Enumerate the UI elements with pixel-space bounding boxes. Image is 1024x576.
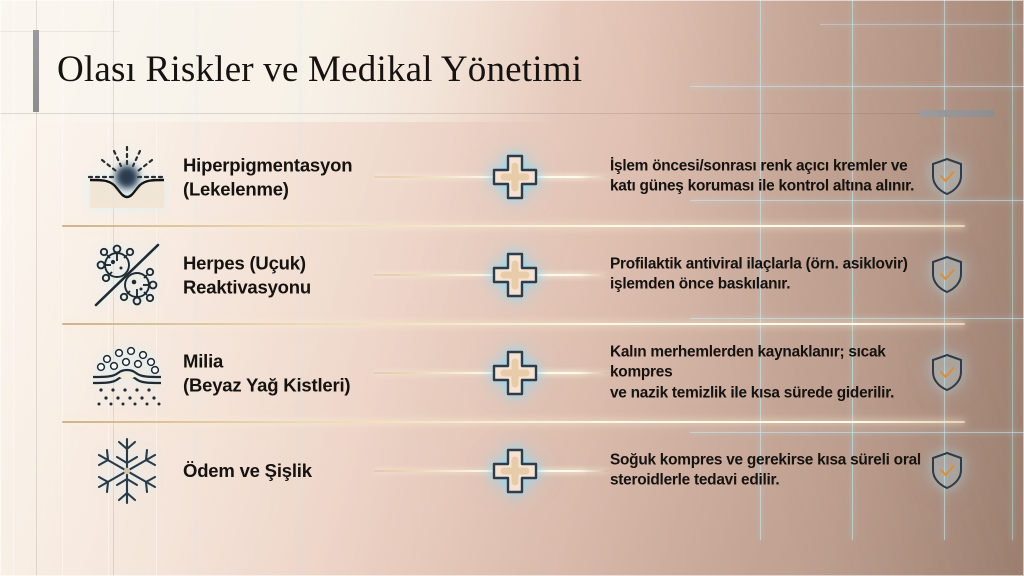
shield-check-icon [928,253,966,297]
virus-blocked-icon [82,238,172,312]
risk-label-line1: Hiperpigmentasyon [183,154,352,175]
list-item[interactable]: Milia (Beyaz Yağ Kistleri) Kalın merheml… [0,324,1024,422]
risk-label: Milia (Beyaz Yağ Kistleri) [183,349,373,396]
medical-cross-icon[interactable] [486,442,544,500]
title-accent-bar [33,30,39,112]
sun-spot-skin-icon [82,140,172,214]
risk-label: Hiperpigmentasyon (Lekelenme) [183,153,373,200]
page-title: Olası Riskler ve Medikal Yönetimi [57,48,582,91]
horizontal-rule [0,31,120,32]
risk-label-line2: Reaktivasyonu [183,275,373,299]
risk-label: Herpes (Uçuk) Reaktivasyonu [183,251,373,298]
shield-check-icon [928,351,966,395]
grid-line-horizontal [690,86,1024,87]
risk-description-line1: Profilaktik antiviral ilaçlarla (örn. as… [610,256,908,273]
risk-description: Soğuk kompres ve gerekirse kısa süreli o… [610,451,946,492]
risk-label-line2: (Beyaz Yağ Kistleri) [183,373,373,397]
shield-check-icon [928,155,966,199]
risk-label-line1: Ödem ve Şişlik [183,460,312,481]
grid-line-horizontal [820,24,1024,25]
risk-description-line2: ve nazik temizlik ile kısa sürede gideri… [610,383,946,403]
medical-cross-icon[interactable] [486,246,544,304]
risk-description-line2: steroidlerle tedavi edilir. [610,471,946,491]
risk-description: Profilaktik antiviral ilaçlarla (örn. as… [610,255,946,296]
risk-description: İşlem öncesi/sonrası renk açıcı kremler … [610,157,946,198]
shield-check-icon [928,449,966,493]
risk-label: Ödem ve Şişlik [183,459,373,483]
risk-description: Kalın merhemlerden kaynaklanır; sıcak ko… [610,343,946,404]
risk-description-line1: İşlem öncesi/sonrası renk açıcı kremler … [610,158,908,175]
list-item[interactable]: Herpes (Uçuk) Reaktivasyonu Profilaktik … [0,226,1024,324]
risk-label-line1: Milia [183,350,223,371]
risk-list: Hiperpigmentasyon (Lekelenme) İşlem önce… [0,128,1024,520]
slide-canvas: Olası Riskler ve Medikal Yönetimi [0,0,1024,576]
top-right-accent-bar [920,110,994,117]
risk-description-line2: işlemden önce baskılanır. [610,275,946,295]
list-item[interactable]: Hiperpigmentasyon (Lekelenme) İşlem önce… [0,128,1024,226]
risk-label-line2: (Lekelenme) [183,177,373,201]
risk-label-line1: Herpes (Uçuk) [183,252,306,273]
milia-skin-cyst-icon [82,336,172,410]
medical-cross-icon[interactable] [486,344,544,402]
risk-description-line2: katı güneş koruması ile kontrol altına a… [610,177,946,197]
list-item[interactable]: Ödem ve Şişlik Soğuk kompres ve gerekirs… [0,422,1024,520]
horizontal-rule [0,113,960,114]
medical-cross-icon[interactable] [486,148,544,206]
risk-description-line1: Kalın merhemlerden kaynaklanır; sıcak ko… [610,344,886,381]
snowflake-icon [82,434,172,508]
risk-description-line1: Soğuk kompres ve gerekirse kısa süreli o… [610,452,921,469]
